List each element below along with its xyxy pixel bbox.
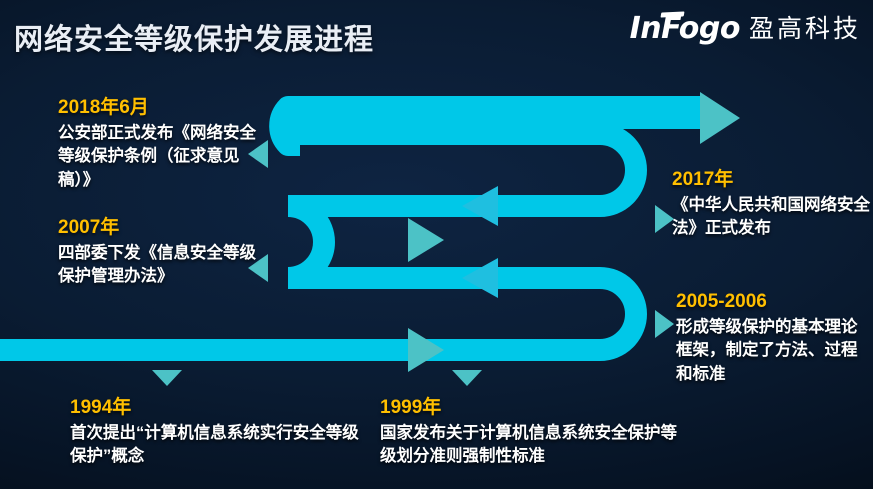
milestone-year-1999: 1999年	[380, 396, 680, 420]
milestone-desc-2007: 四部委下发《信息安全等级保护管理办法》	[58, 242, 268, 289]
arrowhead-inline-left-lower	[462, 258, 498, 298]
arrowhead-inline-right-upper	[408, 218, 444, 262]
pointer-down-1999	[452, 370, 482, 386]
milestone-1999: 1999年 国家发布关于计算机信息系统安全保护等级划分准则强制性标准	[380, 396, 680, 469]
pointer-down-1994	[152, 370, 182, 386]
pointer-right-2005	[655, 310, 674, 338]
milestone-2005: 2005-2006 形成等级保护的基本理论框架，制定了方法、过程和标准	[676, 290, 872, 386]
arrowhead-inline-right-lower	[408, 328, 444, 372]
slide-canvas: 网络安全等级保护发展进程 InFogo 盈高科技	[0, 0, 873, 489]
milestone-1994: 1994年 首次提出“计算机信息系统实行安全等级保护”概念	[70, 396, 370, 469]
milestone-year-2007: 2007年	[58, 216, 268, 240]
milestone-desc-2018: 公安部正式发布《网络安全等级保护条例（征求意见稿）》	[58, 122, 268, 192]
milestone-desc-1994: 首次提出“计算机信息系统实行安全等级保护”概念	[70, 422, 370, 469]
milestone-year-2017: 2017年	[672, 168, 872, 192]
milestone-2018: 2018年6月 公安部正式发布《网络安全等级保护条例（征求意见稿）》	[58, 96, 268, 192]
arrowhead-inline-left-upper	[462, 186, 498, 226]
milestone-year-2005: 2005-2006	[676, 290, 872, 314]
milestone-2017: 2017年 《中华人民共和国网络安全法》正式发布	[672, 168, 872, 241]
milestone-desc-1999: 国家发布关于计算机信息系统安全保护等级划分准则强制性标准	[380, 422, 680, 469]
arrowhead-end-right	[700, 92, 740, 144]
milestone-year-1994: 1994年	[70, 396, 370, 420]
milestone-2007: 2007年 四部委下发《信息安全等级保护管理办法》	[58, 216, 268, 289]
milestone-desc-2017: 《中华人民共和国网络安全法》正式发布	[672, 194, 872, 241]
milestone-desc-2005: 形成等级保护的基本理论框架，制定了方法、过程和标准	[676, 316, 872, 386]
milestone-year-2018: 2018年6月	[58, 96, 268, 120]
